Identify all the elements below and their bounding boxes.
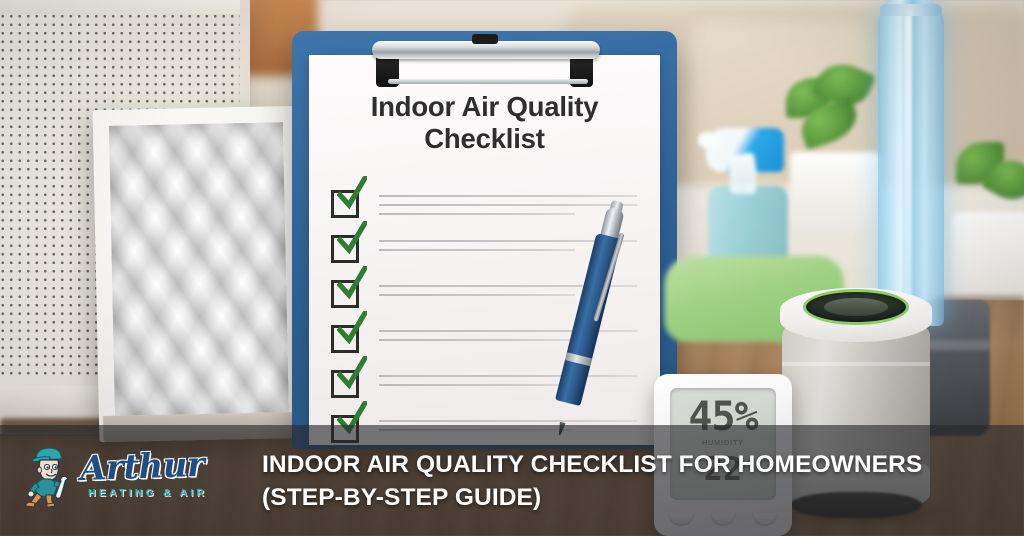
uv-lamp-cap <box>880 4 942 16</box>
purifier-seam <box>782 362 930 366</box>
checklist-item[interactable] <box>331 367 641 412</box>
checklist-heading: Indoor Air Quality Checklist <box>309 91 660 154</box>
purifier-fan-grille <box>824 298 888 316</box>
brand-logo[interactable]: Arthur HEATING & AIR <box>22 441 222 511</box>
hero-image: Indoor Air Quality Checklist <box>0 0 1024 536</box>
logo-tagline: HEATING & AIR <box>88 487 207 499</box>
mascot-technician-icon <box>22 443 82 507</box>
checklist-heading-line-2: Checklist <box>309 123 660 155</box>
checklist-heading-line-1: Indoor Air Quality <box>309 91 660 123</box>
logo-brand-name: Arthur <box>79 445 205 489</box>
plant-pot-right <box>952 212 1024 304</box>
uv-sanitizer-lamp <box>878 0 944 326</box>
checkmark-icon <box>337 266 367 300</box>
checkmark-icon <box>337 221 367 255</box>
clipboard-clip-nub <box>472 34 498 44</box>
spray-trigger <box>728 152 758 185</box>
uv-lamp-core <box>905 10 912 322</box>
checklist-item[interactable] <box>331 187 641 232</box>
pen-cone <box>552 396 580 427</box>
checkmark-icon <box>337 311 367 345</box>
clipboard-clip-wire <box>388 79 588 84</box>
pleated-hvac-filter <box>93 106 306 442</box>
checklist-item-text-lines <box>379 375 637 393</box>
checklist-item-text-lines <box>379 195 637 222</box>
checkmark-icon <box>337 356 367 390</box>
filter-pleated-media <box>109 122 289 416</box>
spray-nozzle <box>698 132 720 148</box>
plant-pot-left <box>790 152 882 238</box>
banner-title: INDOOR AIR QUALITY CHECKLIST FOR HOMEOWN… <box>262 449 962 515</box>
checkmark-icon <box>337 176 367 210</box>
